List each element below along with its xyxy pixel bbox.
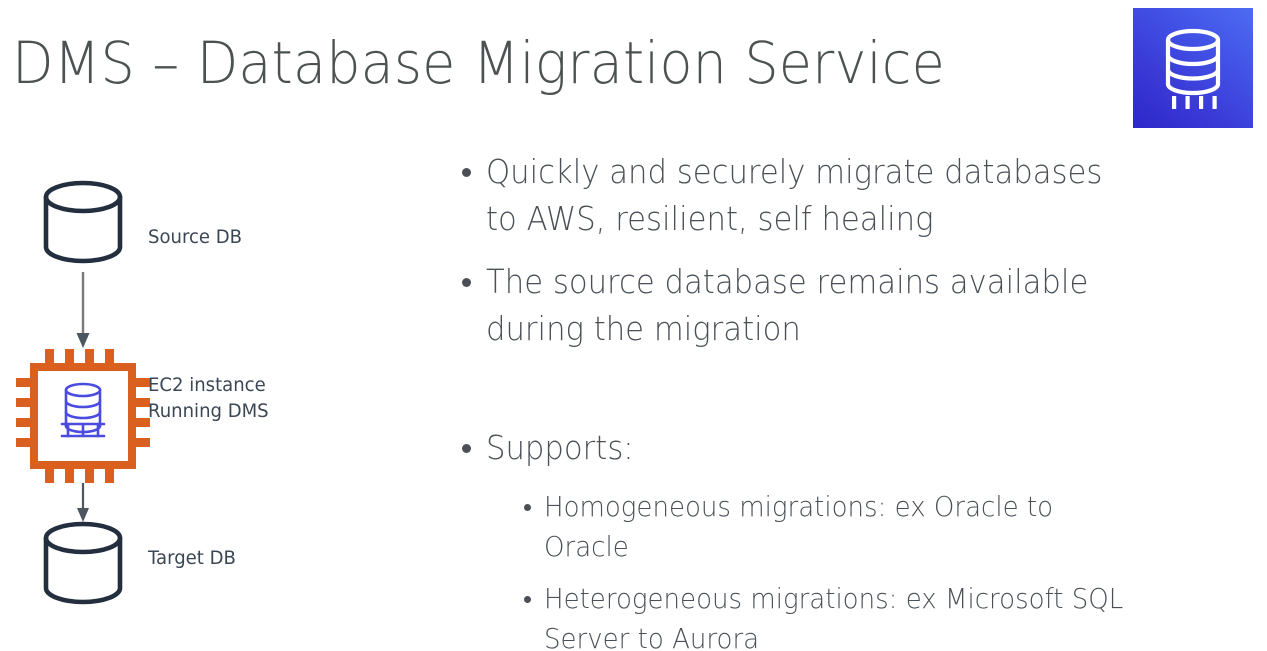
source-db-label: Source DB — [148, 224, 242, 250]
ec2-instance-icon — [16, 349, 150, 483]
ec2-instance-label-line2: Running DMS — [148, 398, 269, 424]
bullet-sub-text: Heterogeneous migrations: ex Microsoft S… — [544, 579, 1128, 651]
arrow-ec2-to-target — [77, 483, 89, 522]
ec2-instance-label-line1: EC2 instance — [148, 372, 269, 398]
source-db-icon — [46, 183, 120, 261]
target-db-label: Target DB — [148, 545, 236, 571]
bullet-text: Quickly and securely migrate databases t… — [486, 148, 1124, 242]
aws-dms-icon — [1133, 8, 1253, 128]
bullet-item: Supports: — [462, 424, 1172, 471]
page-title: DMS – Database Migration Service — [12, 26, 1016, 100]
bullet-item: Quickly and securely migrate databases t… — [462, 148, 1172, 242]
bullet-sub-list: Homogeneous migrations: ex Oracle to Ora… — [524, 487, 1172, 651]
bullet-sub-item: Homogeneous migrations: ex Oracle to Ora… — [524, 487, 1172, 567]
dms-db-glyph-icon — [62, 384, 104, 436]
bullet-dot-icon — [462, 168, 471, 177]
bullet-text: The source database remains available du… — [486, 258, 1124, 352]
bullet-dot-icon — [524, 596, 531, 603]
ec2-instance-label: EC2 instance Running DMS — [148, 372, 269, 424]
migration-flow-diagram: Source DB EC2 instance Running DMS Targe… — [0, 150, 440, 650]
bullet-sub-item: Heterogeneous migrations: ex Microsoft S… — [524, 579, 1172, 651]
bullet-list: Quickly and securely migrate databases t… — [462, 148, 1172, 651]
target-db-icon — [46, 524, 120, 602]
bullet-dot-icon — [524, 504, 531, 511]
arrow-source-to-ec2 — [77, 272, 90, 348]
bullet-text: Supports: — [486, 424, 1124, 471]
bullet-sub-text: Homogeneous migrations: ex Oracle to Ora… — [544, 487, 1128, 567]
slide-canvas: DMS – Database Migration Service — [0, 0, 1267, 651]
bullet-item: The source database remains available du… — [462, 258, 1172, 352]
bullet-dot-icon — [462, 278, 471, 287]
bullet-dot-icon — [462, 444, 471, 453]
bullet-spacer — [462, 368, 1172, 424]
